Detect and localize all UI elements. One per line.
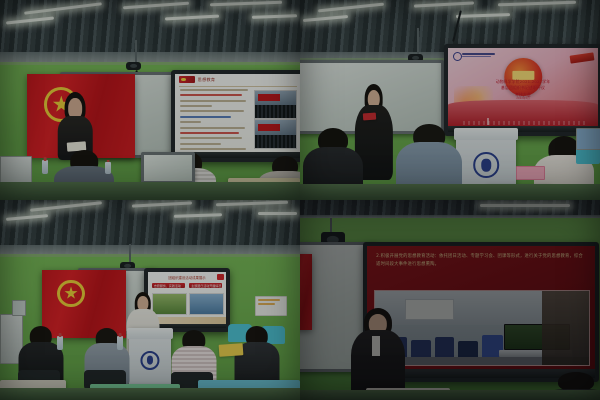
corner-badge-icon	[217, 274, 224, 280]
audience-member	[234, 326, 279, 386]
collage-panel-bottom-left[interactable]: 团组织建设活动成果展示 志愿服务、实践活动 主题团日活动开展情况	[0, 200, 300, 400]
ceiling	[300, 200, 600, 218]
slide-content: 思想教育	[175, 74, 300, 152]
slide-thumbnail	[254, 119, 298, 148]
red-card	[363, 112, 377, 120]
ceiling	[0, 200, 300, 254]
photo-collage: 思想教育	[0, 0, 600, 400]
classroom-photo	[374, 290, 590, 366]
section-bar-right-label: 主题团日活动开展情况	[191, 284, 221, 288]
section-bar-left: 志愿服务、实践活动	[152, 283, 185, 288]
ribbon-decoration	[569, 53, 594, 64]
slide-paragraph: 2.积极开展党的思想教育活动：依托团日活动、专题学习会、团课等形式，进行关于党的…	[376, 253, 586, 268]
slide-text-block	[180, 89, 251, 148]
collage-panel-top-right[interactable]: 动物科学学院2021-2022学年 基层团组织书记述职评议 考核大会 2022年…	[300, 0, 600, 200]
slide-content: 团组织建设活动成果展示 志愿服务、实践活动 主题团日活动开展情况	[148, 272, 226, 324]
youth-league-flag-edge	[300, 254, 312, 330]
presenter	[351, 308, 405, 400]
collage-panel-top-left[interactable]: 思想教育	[0, 0, 300, 200]
smart-screen-top-right[interactable]: 动物科学学院2021-2022学年 基层团组织书记述职评议 考核大会 2022年…	[444, 44, 600, 136]
lectern[interactable]	[129, 328, 171, 388]
activity-photo	[189, 293, 224, 315]
pink-nameplate	[516, 166, 545, 180]
skyline-decoration	[448, 100, 598, 127]
ceiling	[0, 0, 300, 62]
section-bar-right: 主题团日活动开展情况	[189, 283, 222, 288]
wall-notice	[255, 296, 287, 316]
college-logo	[453, 51, 498, 60]
lectern[interactable]	[456, 128, 516, 192]
slide-thumbnail	[254, 90, 298, 119]
projector-camera-icon	[126, 62, 141, 70]
slide-title: 团组织建设活动成果展示	[168, 275, 205, 280]
institution-crest-icon	[140, 351, 159, 370]
lectern	[141, 152, 195, 184]
collage-panel-bottom-right[interactable]: 2.积极开展党的思想教育活动：依托团日活动、专题学习会、团课等形式，进行关于党的…	[300, 200, 600, 400]
title-slide: 动物科学学院2021-2022学年 基层团组织书记述职评议 考核大会 2022年…	[448, 48, 598, 126]
slide-title-line2: 基层团组织书记述职评议	[501, 85, 545, 91]
section-bar-left-label: 志愿服务、实践活动	[154, 284, 181, 288]
slide-title-line1: 动物科学学院2021-2022学年	[496, 79, 550, 85]
institution-crest-icon	[473, 152, 499, 178]
smart-screen-top-left[interactable]: 思想教育	[171, 70, 300, 162]
